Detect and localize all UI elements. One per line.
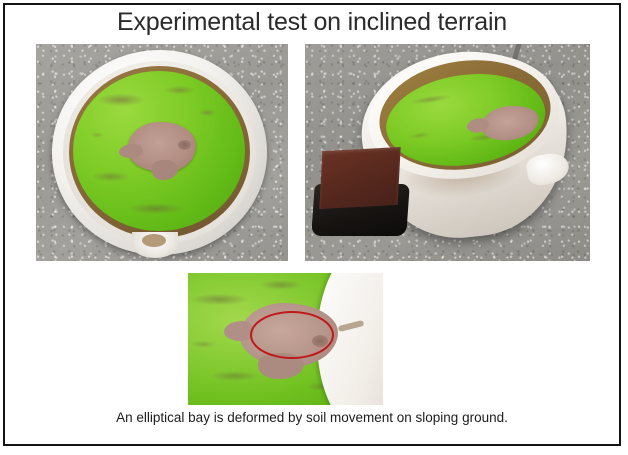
clay-depression	[178, 140, 191, 150]
spout-soil-residue	[142, 234, 166, 247]
presentation-slide: Experimental test on inclined terrain	[3, 3, 621, 446]
figure-tilted-bucket	[305, 44, 590, 261]
red-brick-wedge	[319, 147, 400, 209]
figure-closeup-annotated	[188, 273, 383, 405]
figure-caption: An elliptical bay is deformed by soil mo…	[5, 410, 619, 425]
page-title: Experimental test on inclined terrain	[5, 8, 619, 37]
red-ellipse-annotation	[250, 311, 334, 359]
figure-top-view	[36, 44, 288, 261]
